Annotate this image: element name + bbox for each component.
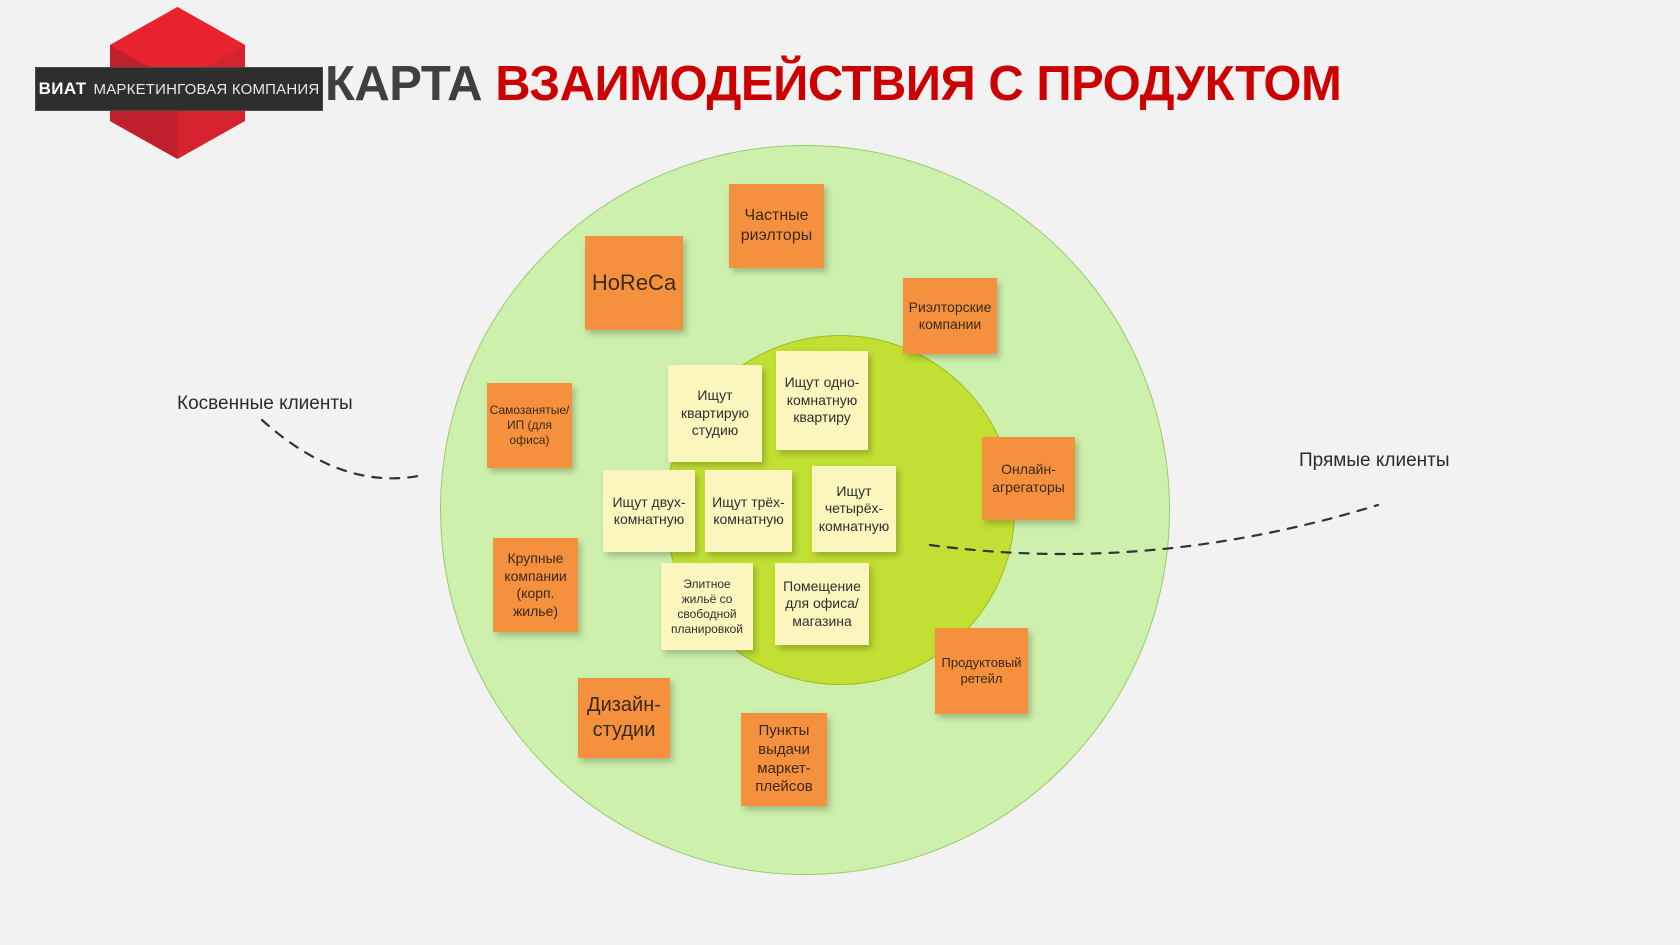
page-title: КАРТА ВЗАИМОДЕЙСТВИЯ С ПРОДУКТОМ	[325, 56, 1341, 112]
left-dashed-arc	[262, 420, 418, 478]
sticky-note-elite[interactable]: Элитное жильё со свободной планировкой	[661, 563, 753, 650]
company-logo: ВИАТ МАРКЕТИНГОВАЯ КОМПАНИЯ	[35, 5, 325, 160]
sticky-note-aggregators[interactable]: Онлайн-агрегаторы	[982, 437, 1075, 520]
sticky-note-one-room[interactable]: Ищут одно-комнатную квартиру	[776, 351, 868, 450]
sticky-note-large-corp[interactable]: Крупные компании (корп. жилье)	[493, 538, 578, 632]
sticky-note-three-room[interactable]: Ищут трёх-комнатную	[705, 470, 792, 552]
page-title-part1: КАРТА	[325, 57, 495, 111]
logo-brand-text: ВИАТ	[39, 79, 87, 99]
sticky-note-studio[interactable]: Ищут квартирую студию	[668, 365, 762, 462]
sticky-note-design[interactable]: Дизайн-студии	[578, 678, 670, 758]
sticky-note-two-room[interactable]: Ищут двух-комнатную	[603, 470, 695, 552]
sticky-note-pickup[interactable]: Пункты выдачи маркет-плейсов	[741, 713, 827, 806]
sticky-note-self-employed[interactable]: Самозанятые/ ИП (для офиса)	[487, 383, 572, 468]
logo-name-bar: ВИАТ МАРКЕТИНГОВАЯ КОМПАНИЯ	[35, 67, 323, 111]
sticky-note-four-room[interactable]: Ищут четырёх-комнатную	[812, 466, 896, 552]
page-title-part2: ВЗАИМОДЕЙСТВИЯ С ПРОДУКТОМ	[495, 57, 1341, 111]
sticky-note-horeca[interactable]: HoReCa	[585, 236, 683, 330]
page-header: ВИАТ МАРКЕТИНГОВАЯ КОМПАНИЯ КАРТА ВЗАИМО…	[0, 0, 1680, 160]
label-direct-clients: Прямые клиенты	[1299, 450, 1450, 472]
label-indirect-clients: Косвенные клиенты	[177, 393, 353, 415]
logo-tagline-text: МАРКЕТИНГОВАЯ КОМПАНИЯ	[94, 81, 320, 98]
sticky-note-agencies[interactable]: Риэлторские компании	[903, 278, 997, 354]
sticky-note-grocery[interactable]: Продуктовый ретейл	[935, 628, 1028, 714]
sticky-note-office-shop[interactable]: Помещение для офиса/ магазина	[775, 563, 869, 645]
sticky-note-private-agents[interactable]: Частные риэлторы	[729, 184, 824, 268]
